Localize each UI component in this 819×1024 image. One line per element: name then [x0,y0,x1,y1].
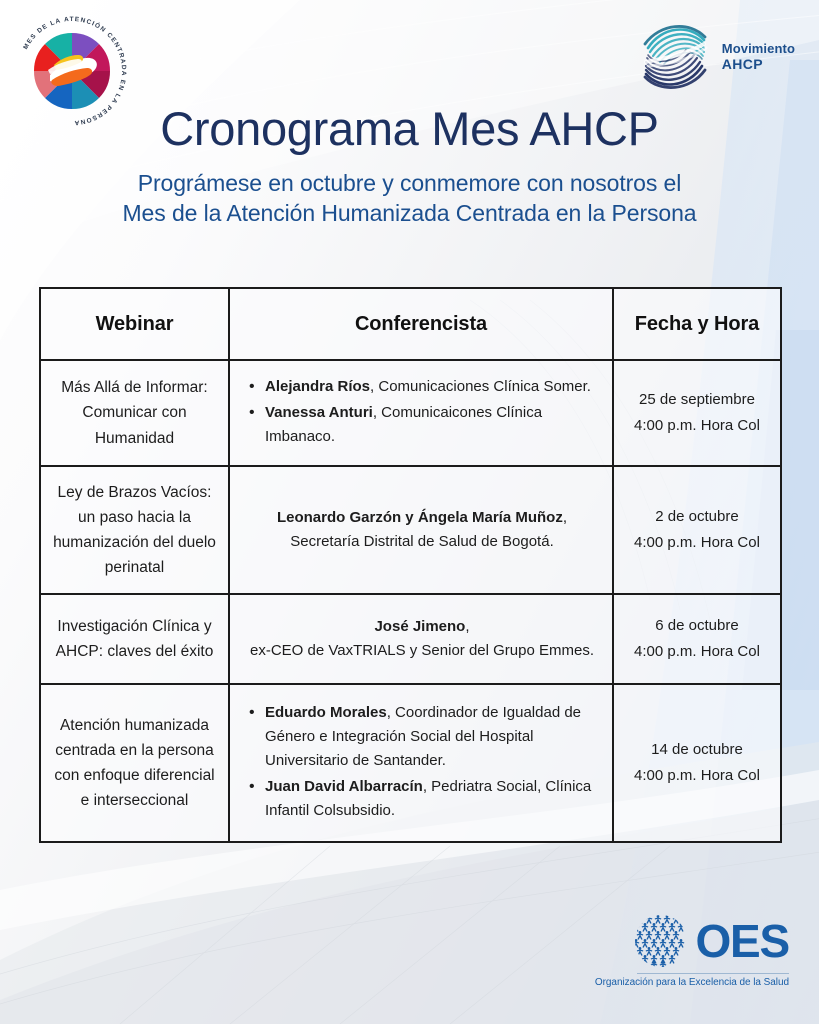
speaker-role: , [563,509,567,526]
ahcp-fan-swirl-icon [636,18,714,96]
title-block: Cronograma Mes AHCP Prográmese en octubr… [0,104,819,229]
speaker-name: Juan David Albarracín [265,778,423,795]
speaker-cell: Leonardo Garzón y Ángela María Muñoz, Se… [229,466,613,594]
table-row: Investigación Clínica y AHCP: claves del… [40,594,781,684]
table-row: Atención humanizada centrada en la perso… [40,684,781,842]
table-header-row: Webinar Conferencista Fecha y Hora [40,288,781,360]
poster-canvas: MES DE LA ATENCIÓN CENTRADA EN LA PERSON… [0,0,819,1024]
column-header-webinar: Webinar [40,288,229,360]
page-title: Cronograma Mes AHCP [0,104,819,154]
speaker-affiliation: ex-CEO de VaxTRIALS y Senior del Grupo E… [248,639,596,663]
speaker-line: José Jimeno, [248,615,596,639]
speaker-role: , [465,618,469,635]
date-cell: 14 de octubre 4:00 p.m. Hora Col [613,684,781,842]
subtitle-line-2: Mes de la Atención Humanizada Centrada e… [0,198,819,228]
list-item: Vanessa Anturi, Comunicaicones Clínica I… [248,401,596,449]
time-text: 4:00 p.m. Hora Col [620,413,774,439]
speaker-role: , Comunicaciones Clínica Somer. [370,378,591,395]
speaker-cell: José Jimeno, ex-CEO de VaxTRIALS y Senio… [229,594,613,684]
date-text: 14 de octubre [620,737,774,763]
date-text: 25 de septiembre [620,387,774,413]
movimiento-ahcp-logo: Movimiento AHCP [636,18,795,96]
speaker-list: Alejandra Ríos, Comunicaciones Clínica S… [248,375,596,449]
oes-logo: OES Organización para la Excelencia de l… [595,913,789,988]
subtitle-line-1: Prográmese en octubre y conmemore con no… [0,168,819,198]
table-row: Ley de Brazos Vacíos: un paso hacia la h… [40,466,781,594]
webinar-title: Atención humanizada centrada en la perso… [40,684,229,842]
speaker-name: Vanessa Anturi [265,404,373,421]
oes-divider [637,973,789,974]
page-subtitle: Prográmese en octubre y conmemore con no… [0,168,819,229]
date-cell: 6 de octubre 4:00 p.m. Hora Col [613,594,781,684]
ahcp-label: AHCP [722,56,795,73]
column-header-fecha-hora: Fecha y Hora [613,288,781,360]
list-item: Alejandra Ríos, Comunicaciones Clínica S… [248,375,596,399]
speaker-cell: Alejandra Ríos, Comunicaciones Clínica S… [229,360,613,466]
oes-tagline: Organización para la Excelencia de la Sa… [595,977,789,988]
time-text: 4:00 p.m. Hora Col [620,763,774,789]
oes-wordmark: OES [695,920,789,962]
column-header-conferencista: Conferencista [229,288,613,360]
oes-people-circle-icon [633,913,689,969]
speaker-name: Alejandra Ríos [265,378,370,395]
webinar-title: Ley de Brazos Vacíos: un paso hacia la h… [40,466,229,594]
date-text: 6 de octubre [620,613,774,639]
speaker-line: Leonardo Garzón y Ángela María Muñoz, [248,506,596,530]
speaker-name: Leonardo Garzón y Ángela María Muñoz [277,509,563,526]
movimiento-label: Movimiento [722,41,795,57]
speaker-list: Eduardo Morales, Coordinador de Igualdad… [248,701,596,823]
date-cell: 25 de septiembre 4:00 p.m. Hora Col [613,360,781,466]
speaker-name: Eduardo Morales [265,704,387,721]
speaker-cell: Eduardo Morales, Coordinador de Igualdad… [229,684,613,842]
time-text: 4:00 p.m. Hora Col [620,530,774,556]
speaker-affiliation: Secretaría Distrital de Salud de Bogotá. [248,530,596,554]
schedule-table: Webinar Conferencista Fecha y Hora Más A… [39,287,782,843]
list-item: Juan David Albarracín, Pedriatra Social,… [248,775,596,823]
time-text: 4:00 p.m. Hora Col [620,639,774,665]
webinar-title: Investigación Clínica y AHCP: claves del… [40,594,229,684]
date-text: 2 de octubre [620,504,774,530]
speaker-name: José Jimeno [374,618,465,635]
table-row: Más Allá de Informar: Comunicar con Huma… [40,360,781,466]
date-cell: 2 de octubre 4:00 p.m. Hora Col [613,466,781,594]
webinar-title: Más Allá de Informar: Comunicar con Huma… [40,360,229,466]
list-item: Eduardo Morales, Coordinador de Igualdad… [248,701,596,773]
